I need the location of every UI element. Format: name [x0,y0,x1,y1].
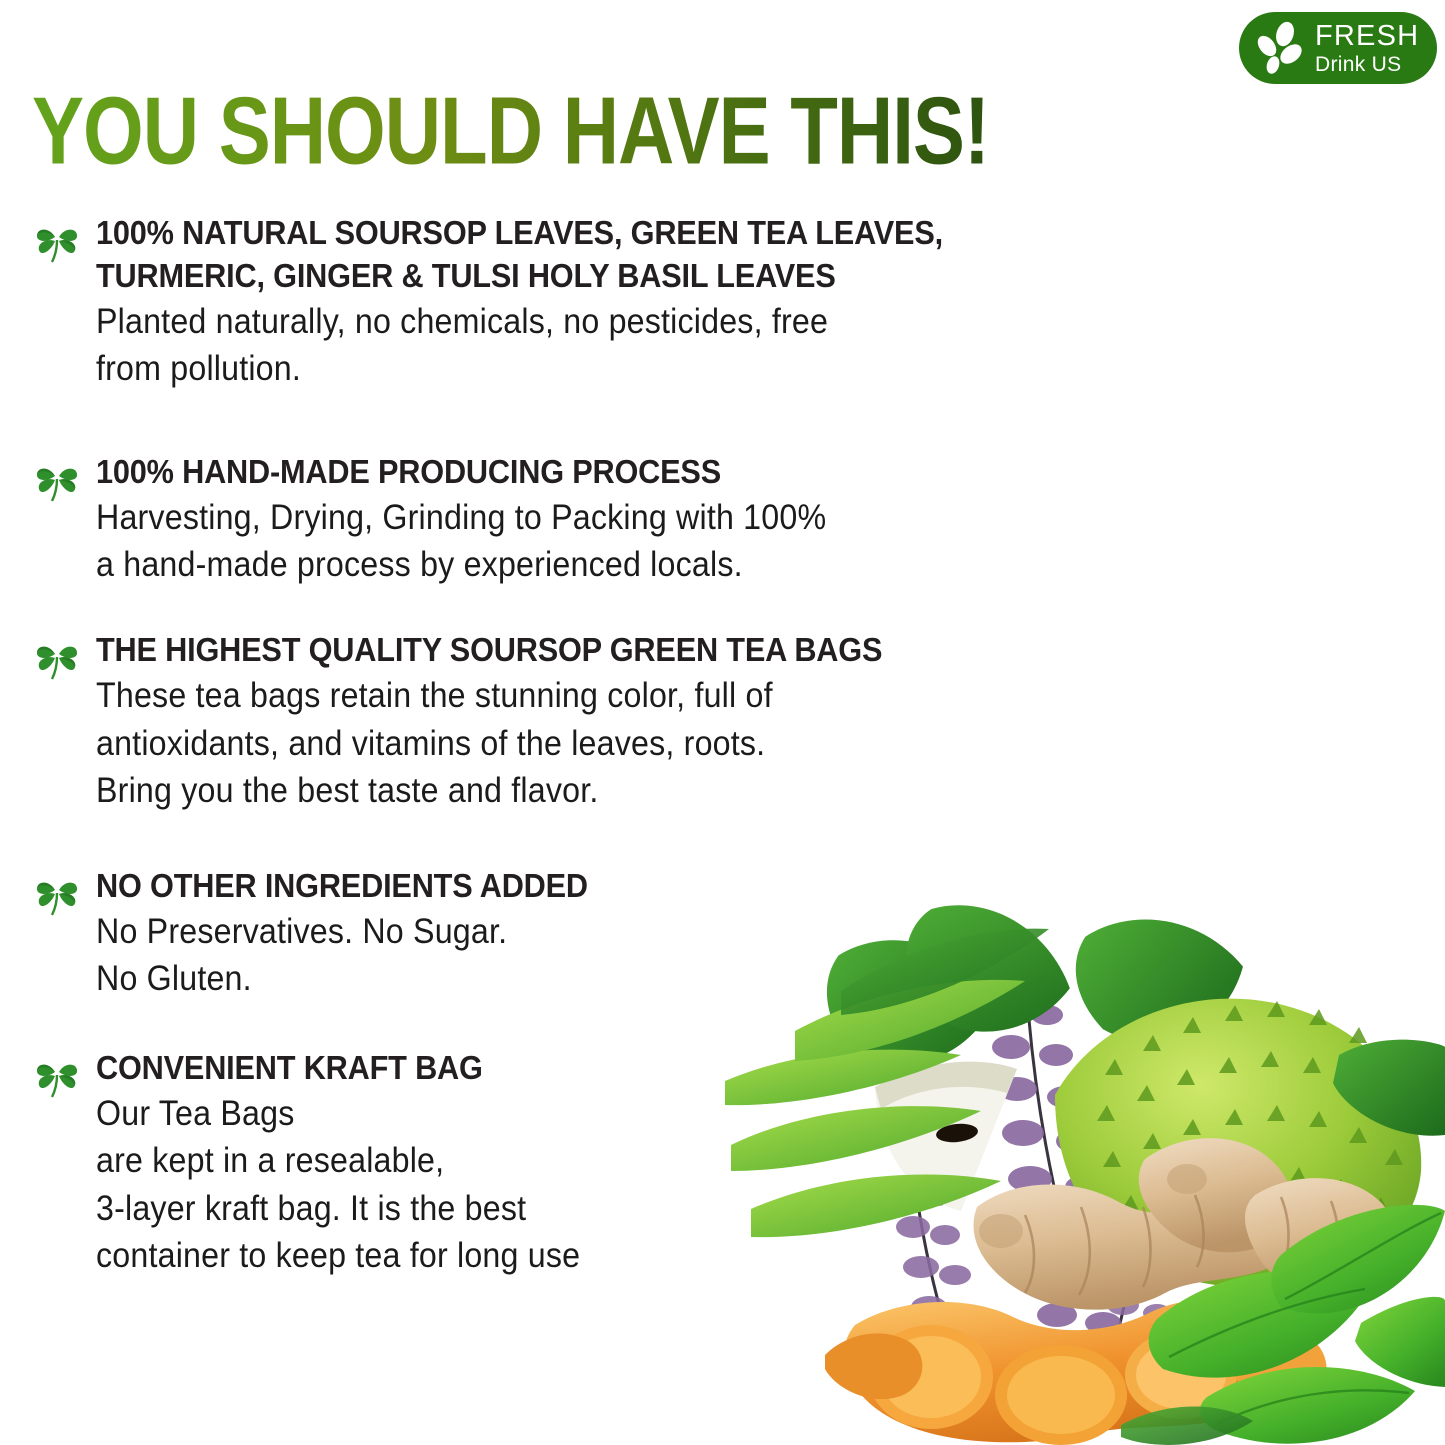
bullet-body-line: Bring you the best taste and flavor. [96,767,1176,815]
four-leaf-clover-icon [34,871,80,917]
logo-line-fresh: FRESH [1315,22,1419,51]
bullet-title-line: TURMERIC, GINGER & TULSI HOLY BASIL LEAV… [96,255,1188,298]
four-leaf-clover-icon [34,635,80,681]
logo-text-block: FRESH Drink US [1315,22,1419,75]
page-title: YOU SHOULD HAVE THIS! [32,83,989,178]
feature-bullet-list: 100% NATURAL SOURSOP LEAVES, GREEN TEA L… [30,212,1270,1294]
four-leaf-clover-icon [34,218,80,264]
bullet-item-highest-quality: THE HIGHEST QUALITY SOURSOP GREEN TEA BA… [30,629,1270,815]
bullet-body-line: Harvesting, Drying, Grinding to Packing … [96,494,1176,542]
bullet-body-line: No Preservatives. No Sugar. [96,908,1176,956]
bullet-item-natural-ingredients: 100% NATURAL SOURSOP LEAVES, GREEN TEA L… [30,212,1270,393]
bullet-item-kraft-bag: CONVENIENT KRAFT BAG Our Tea Bags are ke… [30,1047,1270,1280]
bullet-body-line: These tea bags retain the stunning color… [96,672,1176,720]
bullet-body-line: 3-layer kraft bag. It is the best [96,1185,1176,1233]
infographic-page: FRESH Drink US YOU SHOULD HAVE THIS! [0,0,1445,1445]
four-leaf-clover-icon [34,457,80,503]
bullet-body-line: are kept in a resealable, [96,1137,1176,1185]
brand-logo-badge: FRESH Drink US [1239,12,1437,84]
bullet-body-line: Our Tea Bags [96,1090,1176,1138]
bullet-body-line: Planted naturally, no chemicals, no pest… [96,298,1176,346]
bullet-body-line: No Gluten. [96,955,1176,1003]
bullet-item-handmade-process: 100% HAND-MADE PRODUCING PROCESS Harvest… [30,451,1270,589]
bullet-title-line: 100% NATURAL SOURSOP LEAVES, GREEN TEA L… [96,212,1188,255]
bullet-item-no-other-ingredients: NO OTHER INGREDIENTS ADDED No Preservati… [30,865,1270,1003]
bullet-body-line: a hand-made process by experienced local… [96,541,1176,589]
bullet-title-line: NO OTHER INGREDIENTS ADDED [96,865,1188,908]
bullet-body-line: antioxidants, and vitamins of the leaves… [96,720,1176,768]
turmeric-root-slices [825,1300,1327,1445]
bullet-title-line: THE HIGHEST QUALITY SOURSOP GREEN TEA BA… [96,629,1188,672]
four-leaf-clover-icon [34,1053,80,1099]
bullet-body-line: container to keep tea for long use [96,1232,1176,1280]
bullet-title-line: CONVENIENT KRAFT BAG [96,1047,1188,1090]
logo-line-drinkus: Drink US [1315,54,1419,75]
bullet-body-line: from pollution. [96,345,1176,393]
bullet-title-line: 100% HAND-MADE PRODUCING PROCESS [96,451,1188,494]
leaf-cluster-icon [1253,20,1309,76]
